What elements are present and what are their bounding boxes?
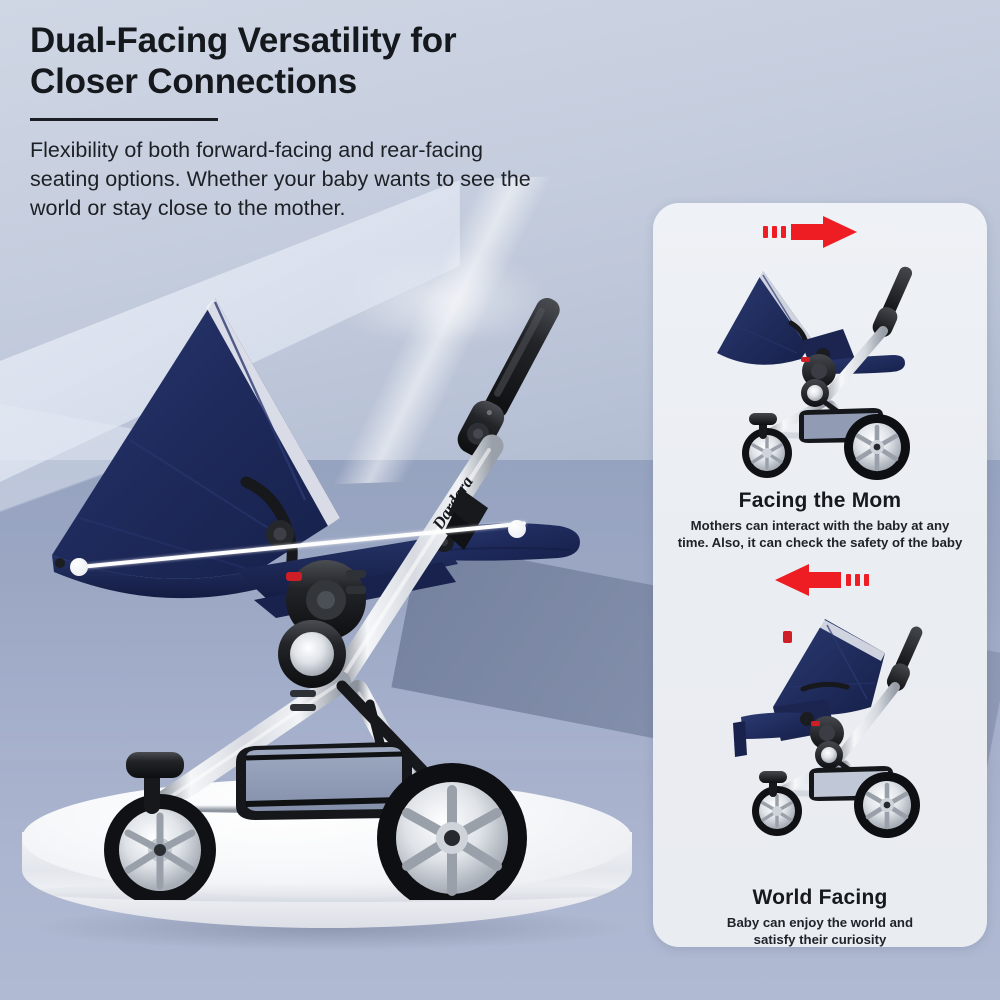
card-description-world-facing: Baby can enjoy the world and satisfy the… [653, 914, 987, 947]
pointer-rod-end-left [70, 558, 88, 576]
pointer-rod-line [80, 521, 526, 569]
card-1-desc-line-1: Baby can enjoy the world and [657, 914, 983, 931]
card-0-desc-line-2: time. Also, it can check the safety of t… [657, 534, 983, 551]
dimension-pointer-rod [68, 521, 528, 593]
card-description-facing-mom: Mothers can interact with the baby at an… [653, 517, 987, 552]
red-arrow-right-icon [761, 215, 861, 249]
subcopy-line-2: seating options. Whether your baby wants… [30, 165, 730, 194]
title-divider-rule [30, 118, 218, 121]
card-0-desc-line-1: Mothers can interact with the baby at an… [657, 517, 983, 534]
pointer-rod-end-right [508, 520, 526, 538]
panel-stroller-world-facing [707, 595, 977, 845]
comparison-panel: Facing the Mom Mothers can interact with… [653, 203, 987, 947]
card-title-world-facing: World Facing [653, 886, 987, 910]
headline-line-1: Dual-Facing Versatility for [30, 20, 670, 61]
subcopy-line-3: world or stay close to the mother. [30, 194, 730, 223]
red-arrow-left-icon [771, 563, 871, 597]
panel-stroller-facing-mom [705, 245, 975, 485]
infographic-canvas: Dual-Facing Versatility for Closer Conne… [0, 0, 1000, 1000]
card-title-facing-mom: Facing the Mom [653, 489, 987, 513]
card-1-desc-line-2: satisfy their curiosity [657, 931, 983, 947]
subcopy-line-1: Flexibility of both forward-facing and r… [30, 136, 730, 165]
subtitle-paragraph: Flexibility of both forward-facing and r… [30, 136, 730, 223]
page-title: Dual-Facing Versatility for Closer Conne… [30, 20, 670, 103]
hero-handle [453, 294, 564, 461]
headline-line-2: Closer Connections [30, 61, 670, 102]
